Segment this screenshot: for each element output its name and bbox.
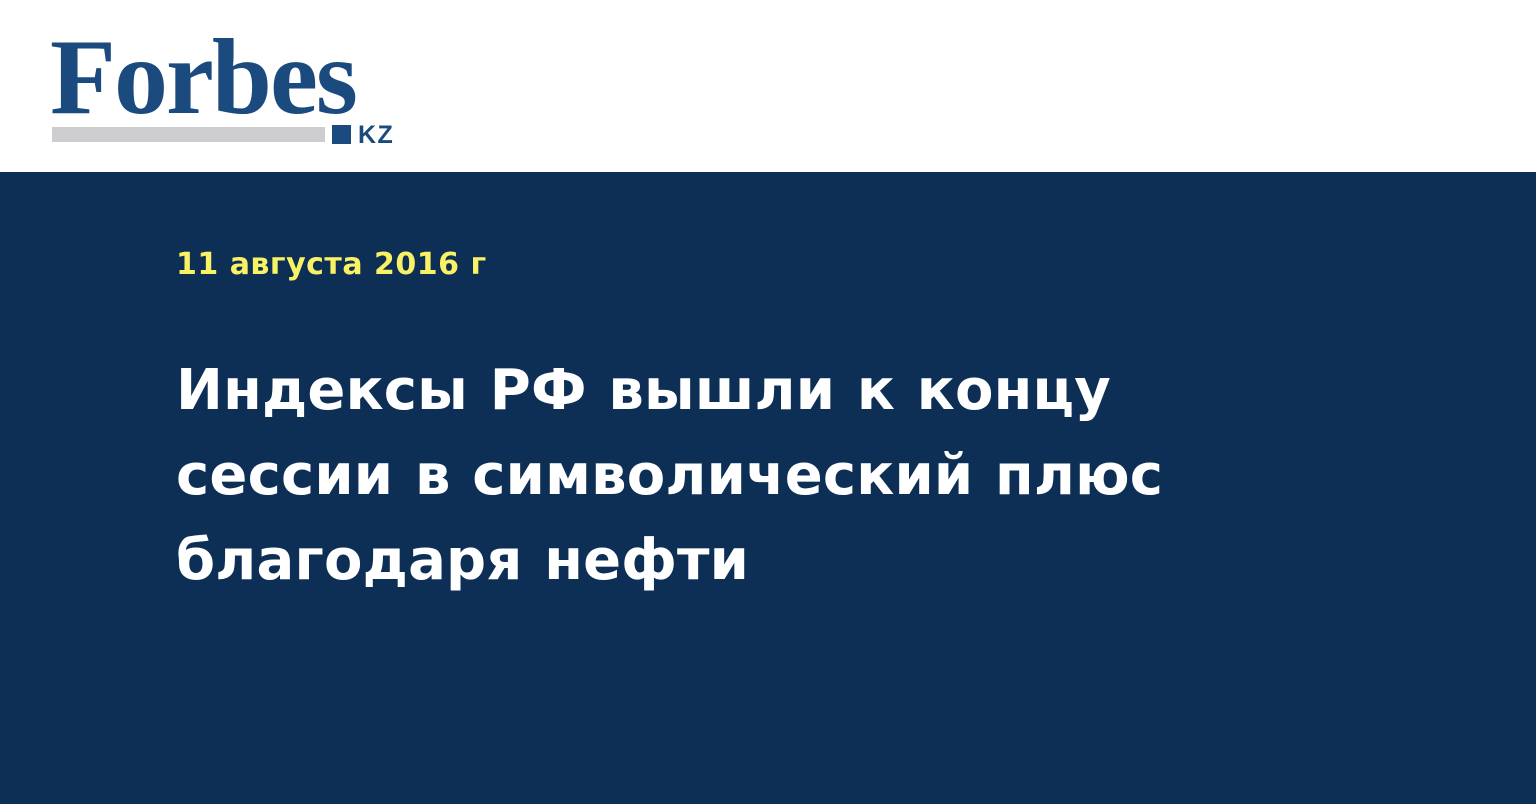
page-title: Индексы РФ вышли к концу сессии в символ… bbox=[176, 348, 1206, 603]
site-masthead: Forbes KZ bbox=[0, 0, 1536, 172]
forbes-wordmark: Forbes bbox=[50, 26, 356, 130]
logo-underbar bbox=[52, 127, 325, 142]
blue-square-icon bbox=[332, 125, 351, 144]
logo-kz-suffix: KZ bbox=[358, 123, 394, 148]
article-hero: 11 августа 2016 г Индексы РФ вышли к кон… bbox=[0, 172, 1536, 804]
article-date: 11 августа 2016 г bbox=[176, 248, 487, 282]
forbes-kz-logo[interactable]: Forbes KZ bbox=[50, 26, 410, 146]
article-hero-page: Forbes KZ 11 августа 2016 г Индексы РФ в… bbox=[0, 0, 1536, 804]
